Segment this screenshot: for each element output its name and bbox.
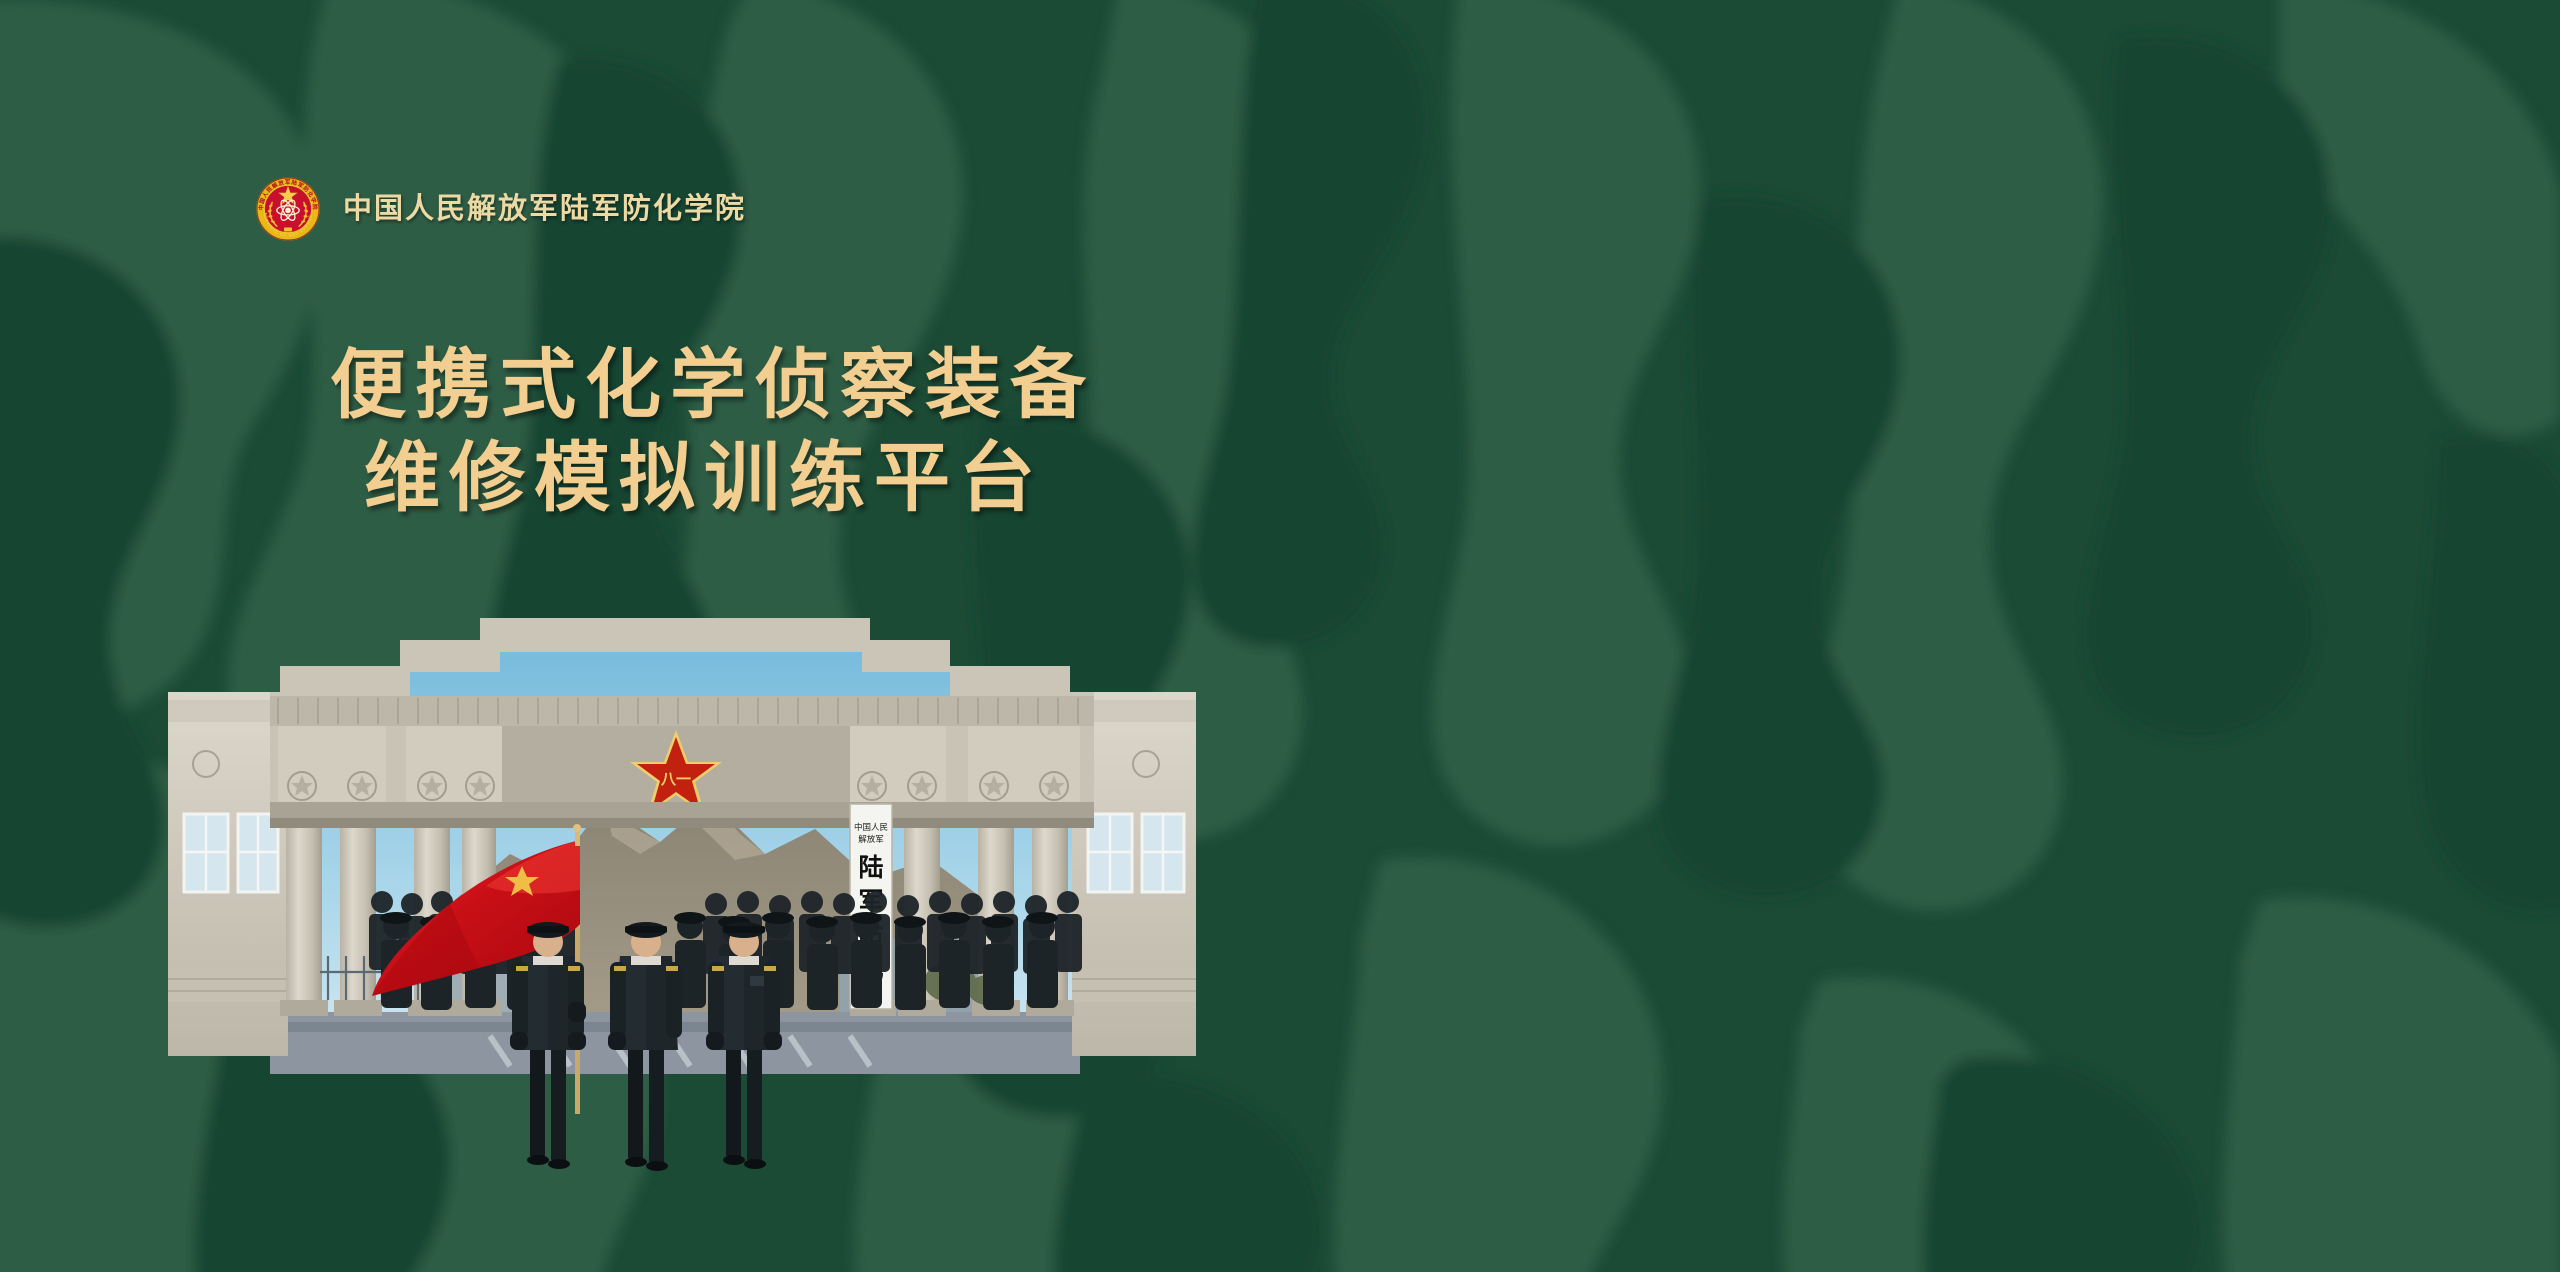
brand-row: 中国人民解放军陆军防化学院 INSTITUTE OF NBC DEFENSE (255, 176, 746, 242)
academy-gate-photo: 八一 (150, 604, 1210, 1109)
svg-text:八一: 八一 (660, 771, 691, 788)
splash-screen: 中国人民解放军陆军防化学院 INSTITUTE OF NBC DEFENSE (0, 0, 2560, 1272)
nbc-defense-academy-emblem-icon: 中国人民解放军陆军防化学院 INSTITUTE OF NBC DEFENSE (255, 176, 321, 242)
organization-name: 中国人民解放军陆军防化学院 (343, 195, 746, 224)
svg-text:解放军: 解放军 (858, 834, 884, 844)
page-title-line-2: 维修模拟训练平台 (330, 433, 1095, 526)
svg-text:陆: 陆 (858, 854, 883, 882)
page-title-line-1: 便携式化学侦察装备 (330, 340, 1095, 433)
svg-text:中国人民: 中国人民 (854, 822, 888, 832)
page-title: 便携式化学侦察装备 维修模拟训练平台 (330, 340, 1095, 525)
